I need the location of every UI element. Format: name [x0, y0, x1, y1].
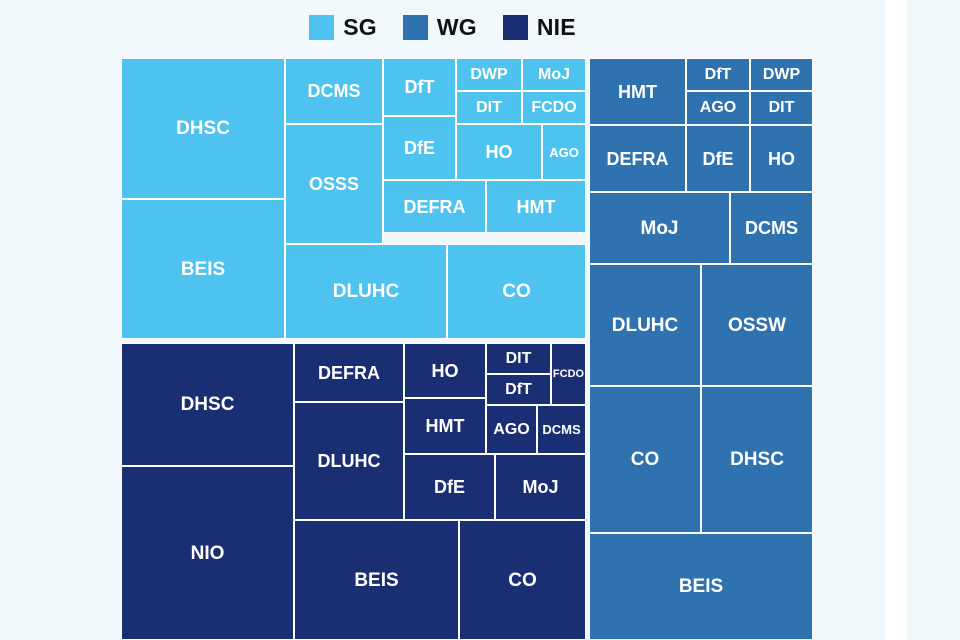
- treemap-cell-label: DWP: [763, 67, 800, 83]
- treemap-cell[interactable]: DfT: [686, 58, 750, 91]
- treemap-cell[interactable]: MoJ: [589, 192, 730, 264]
- treemap-cell[interactable]: HO: [750, 125, 813, 192]
- treemap-cell[interactable]: DfE: [686, 125, 750, 192]
- treemap-cell[interactable]: HMT: [589, 58, 686, 125]
- legend-swatch-wg: [403, 15, 428, 40]
- treemap-cell-label: HO: [768, 150, 795, 168]
- panel-divider-stripe: [885, 0, 907, 640]
- treemap-cell-label: DIT: [769, 100, 795, 116]
- treemap-cell-label: AGO: [700, 100, 736, 116]
- legend-label-wg: WG: [437, 16, 477, 39]
- legend: SG WG NIE: [0, 0, 885, 55]
- legend-label-sg: SG: [343, 16, 377, 39]
- treemap-cell[interactable]: DIT: [750, 91, 813, 125]
- treemap-cell[interactable]: CO: [589, 386, 701, 533]
- treemap-cell-label: DfE: [703, 150, 734, 168]
- treemap-cell[interactable]: BEIS: [589, 533, 813, 640]
- treemap-figure: SG WG NIE DHSCBEISDCMSOSSSDfTDWPMoJDITFC…: [0, 0, 885, 640]
- legend-label-nie: NIE: [537, 16, 576, 39]
- legend-entry-nie[interactable]: NIE: [503, 15, 576, 40]
- treemap-cell[interactable]: DHSC: [701, 386, 813, 533]
- treemap-cell-label: BEIS: [679, 577, 723, 596]
- treemap-cell[interactable]: DLUHC: [589, 264, 701, 386]
- right-background-pad: [907, 0, 960, 640]
- legend-swatch-nie: [503, 15, 528, 40]
- treemap-cell-label: DfT: [705, 67, 732, 83]
- treemap-cell[interactable]: OSSW: [701, 264, 813, 386]
- treemap-plot-area: DHSCBEISDCMSOSSSDfTDWPMoJDITFCDODfEHOAGO…: [0, 55, 885, 640]
- legend-swatch-sg: [309, 15, 334, 40]
- treemap-cell-label: DCMS: [745, 219, 798, 237]
- treemap-cell-label: HMT: [618, 83, 657, 101]
- treemap-cell-label: DHSC: [730, 450, 784, 469]
- treemap-cell[interactable]: DCMS: [730, 192, 813, 264]
- treemap-cell-label: DEFRA: [607, 150, 669, 168]
- treemap-cell[interactable]: DWP: [750, 58, 813, 91]
- treemap-group-wg: HMTDfTDWPAGODITDEFRADfEHOMoJDCMSDLUHCOSS…: [0, 55, 885, 640]
- treemap-cell-label: DLUHC: [612, 316, 679, 335]
- treemap-cell-label: MoJ: [641, 219, 679, 238]
- treemap-cell[interactable]: DEFRA: [589, 125, 686, 192]
- treemap-cell-label: OSSW: [728, 316, 786, 335]
- legend-entry-wg[interactable]: WG: [403, 15, 477, 40]
- treemap-cell-label: CO: [631, 450, 660, 469]
- legend-entry-sg[interactable]: SG: [309, 15, 377, 40]
- treemap-cell[interactable]: AGO: [686, 91, 750, 125]
